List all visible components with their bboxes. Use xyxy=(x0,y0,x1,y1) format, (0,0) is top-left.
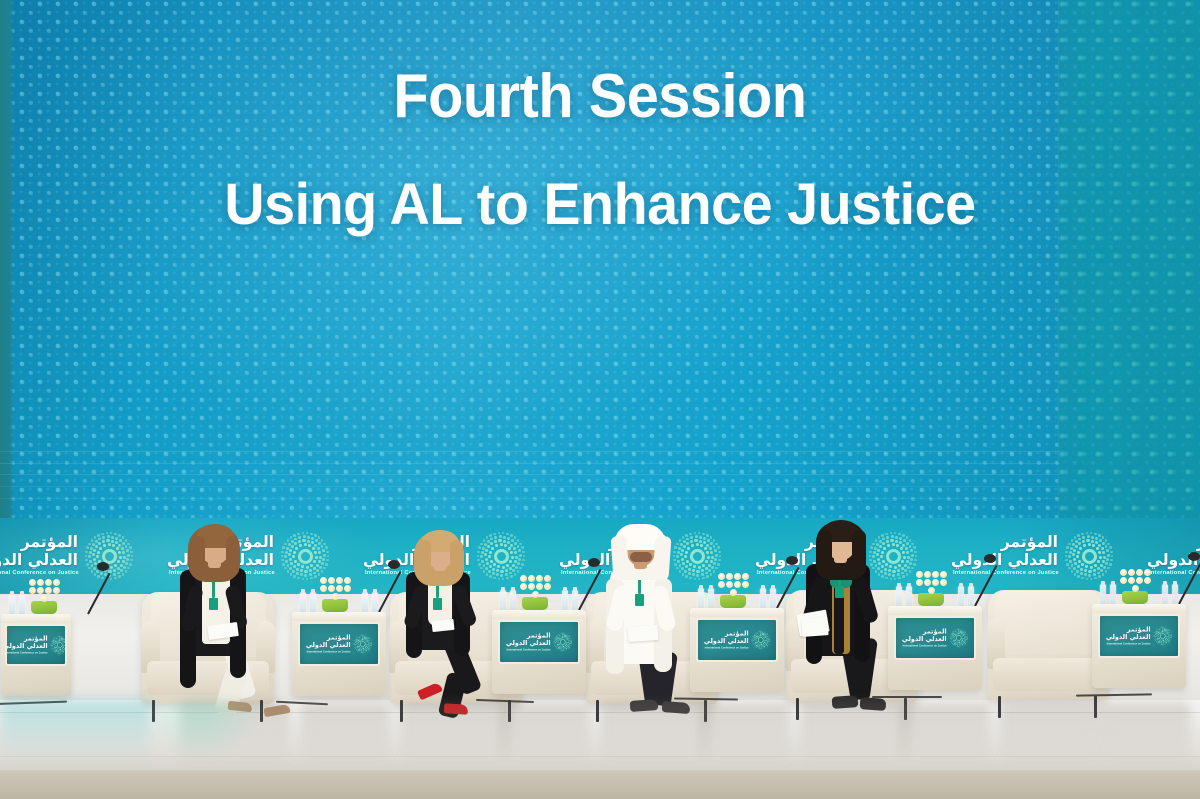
hair-front xyxy=(226,536,239,576)
flower xyxy=(320,577,327,584)
dotted-ring-logo xyxy=(751,631,770,650)
flower xyxy=(528,583,535,590)
podium-text-block: المؤتمرالعدلي الدوليInternational Confer… xyxy=(5,636,47,655)
banner-unit: المؤتمرالعدلي الدوليInternational Confer… xyxy=(922,518,1118,594)
flower xyxy=(344,585,351,592)
flower-bouquet xyxy=(914,578,948,594)
flower xyxy=(924,571,931,578)
side-table-podium: المؤتمرالعدلي الدوليInternational Confer… xyxy=(1092,604,1186,688)
flower-bouquet xyxy=(27,586,61,602)
dotted-ring-logo xyxy=(1064,531,1114,581)
flower-bouquet xyxy=(518,582,552,598)
flower-bouquet xyxy=(1118,576,1152,592)
podium-arabic-line-2: العدلي الدولي xyxy=(1106,634,1151,641)
flower xyxy=(932,579,939,586)
flower xyxy=(1144,569,1151,576)
hair-front xyxy=(418,540,431,578)
flower xyxy=(1120,569,1127,576)
chair-seat xyxy=(993,658,1103,691)
water-bottle xyxy=(9,594,15,614)
podium-logo-block: المؤتمرالعدلي الدوليInternational Confer… xyxy=(1106,627,1172,646)
wall-seam-line xyxy=(0,486,1060,487)
floor-reflection-smudge xyxy=(1100,702,1190,764)
podium-arabic-line-1: المؤتمر xyxy=(725,631,749,638)
conference-photograph: Fourth Session Using AL to Enhance Justi… xyxy=(0,0,1200,799)
wall-seam-line xyxy=(0,463,1060,464)
document-paper xyxy=(801,617,828,637)
flower xyxy=(53,579,60,586)
wall-seam-line xyxy=(0,498,1060,499)
dotted-ring-logo xyxy=(50,636,66,655)
podium-text-block: المؤتمرالعدلي الدوليInternational Confer… xyxy=(306,635,351,654)
flower xyxy=(520,583,527,590)
flower-bouquet xyxy=(318,584,352,600)
flower xyxy=(1128,577,1135,584)
speaker-2 xyxy=(396,528,516,713)
podium-top-surface xyxy=(292,612,386,621)
flower xyxy=(742,573,749,580)
flower xyxy=(734,581,741,588)
flower-vase xyxy=(1122,591,1148,604)
flower xyxy=(544,575,551,582)
floor-reflection-smudge xyxy=(900,702,990,764)
flower xyxy=(532,591,539,598)
slide-subtitle: Using AL to Enhance Justice xyxy=(24,174,1176,236)
banner-arabic-line-1: المؤتمر xyxy=(21,535,78,551)
dotted-ring-logo xyxy=(1153,627,1172,646)
water-bottle xyxy=(572,590,578,610)
podium-english-text: International Conference on Justice xyxy=(307,650,351,653)
flower xyxy=(29,587,36,594)
flower-vase xyxy=(918,593,944,606)
logo-floor-reflection xyxy=(140,702,260,758)
flower xyxy=(536,583,543,590)
floor-reflection-smudge xyxy=(300,702,390,764)
floor-reflection-smudge xyxy=(700,702,790,764)
flower xyxy=(940,579,947,586)
flower xyxy=(37,587,44,594)
side-table-podium: المؤتمرالعدلي الدوليInternational Confer… xyxy=(292,612,386,696)
flower xyxy=(332,593,339,600)
podium-display-screen: المؤتمرالعدلي الدوليInternational Confer… xyxy=(1098,614,1181,658)
flower xyxy=(45,587,52,594)
podium-top-surface xyxy=(1092,604,1186,613)
side-table-podium: المؤتمرالعدلي الدوليInternational Confer… xyxy=(1,614,71,696)
flower xyxy=(928,587,935,594)
podium-logo-block: المؤتمرالعدلي الدوليInternational Confer… xyxy=(306,635,372,654)
flower xyxy=(528,575,535,582)
water-bottle xyxy=(362,592,368,612)
water-bottle xyxy=(958,586,964,606)
podium-english-text: International Conference on Justice xyxy=(5,652,47,655)
hair-front xyxy=(450,540,463,578)
flower xyxy=(328,585,335,592)
flower xyxy=(45,579,52,586)
banner-arabic-line-2: العدلي الدولي xyxy=(0,553,78,569)
badge xyxy=(209,598,218,610)
flower xyxy=(37,579,44,586)
flower xyxy=(520,575,527,582)
flower xyxy=(344,577,351,584)
flower xyxy=(1120,577,1127,584)
shoe xyxy=(417,682,443,701)
flower xyxy=(53,587,60,594)
flower xyxy=(328,577,335,584)
water-bottle xyxy=(770,588,776,608)
flower-vase xyxy=(522,597,548,610)
flower xyxy=(1144,577,1151,584)
water-bottle xyxy=(1162,584,1168,604)
podium-display-screen: المؤتمرالعدلي الدوليInternational Confer… xyxy=(298,622,381,666)
banner-text-block: المؤتمرالعدلي الدوليInternational Confer… xyxy=(951,535,1058,577)
flower xyxy=(320,585,327,592)
banner-unit: المؤتمرالعدلي الدوليInternational Confer… xyxy=(0,518,138,594)
flower-vase xyxy=(31,601,57,614)
flower xyxy=(932,571,939,578)
banner-english-text: International Conference on Justice xyxy=(953,571,1059,577)
flower xyxy=(336,577,343,584)
podium-arabic-line-1: المؤتمر xyxy=(327,635,351,642)
wall-seam-line xyxy=(0,474,1060,475)
slide-title: Fourth Session xyxy=(42,64,1158,130)
flower xyxy=(336,585,343,592)
floor-reflection-smudge xyxy=(400,702,510,764)
flower xyxy=(718,573,725,580)
podium-arabic-line-1: المؤتمر xyxy=(923,629,947,636)
badge xyxy=(433,598,442,610)
badge xyxy=(635,594,644,606)
flower xyxy=(916,579,923,586)
badge xyxy=(835,586,844,598)
podium-text-block: المؤتمرالعدلي الدوليInternational Confer… xyxy=(1106,627,1151,646)
microphone-head xyxy=(97,562,109,571)
flower xyxy=(536,575,543,582)
flower xyxy=(1128,569,1135,576)
flower xyxy=(1136,569,1143,576)
speaker-3 xyxy=(596,524,716,714)
document-paper xyxy=(628,625,659,642)
water-bottle xyxy=(310,592,316,612)
water-bottle xyxy=(19,594,25,614)
podium-logo-block: المؤتمرالعدلي الدوليInternational Confer… xyxy=(5,636,67,655)
wall-seam-line xyxy=(0,451,1060,452)
chair-back xyxy=(995,590,1101,654)
banner-arabic-line-2: العدلي الدولي xyxy=(951,553,1058,569)
banner-english-text: International Conference on Justice xyxy=(0,571,79,577)
flower xyxy=(726,581,733,588)
dotted-ring-logo xyxy=(949,629,968,648)
microphone-head xyxy=(1188,552,1200,561)
podium-arabic-line-1: المؤتمر xyxy=(1127,627,1151,634)
floor-reflection-smudge xyxy=(500,702,590,764)
flower-vase xyxy=(322,599,348,612)
podium-english-text: International Conference on Justice xyxy=(1107,642,1151,645)
speaker-4 xyxy=(796,518,916,714)
podium-top-surface xyxy=(1,614,71,623)
water-bottle xyxy=(1172,584,1178,604)
flower xyxy=(1132,585,1139,592)
banner-text-block: المؤتمرالعدلي الدوليInternational Confer… xyxy=(0,535,78,577)
water-bottle xyxy=(372,592,378,612)
flower xyxy=(924,579,931,586)
dotted-ring-logo xyxy=(553,633,572,652)
flower xyxy=(940,571,947,578)
banner-arabic-line-1: المؤتمر xyxy=(1001,535,1058,551)
water-bottle xyxy=(760,588,766,608)
hair-front xyxy=(852,530,866,576)
flower xyxy=(734,573,741,580)
dotted-ring-logo xyxy=(353,635,372,654)
water-bottle xyxy=(1100,584,1106,604)
podium-arabic-line-2: العدلي الدولي xyxy=(5,643,47,650)
water-bottle xyxy=(1110,584,1116,604)
water-bottle xyxy=(300,592,306,612)
flower xyxy=(29,579,36,586)
document-paper xyxy=(431,619,454,632)
floor-reflection-smudge xyxy=(800,702,910,764)
microphone-head xyxy=(984,554,996,563)
hair-front xyxy=(630,552,652,562)
flower-vase xyxy=(720,595,746,608)
podium-arabic-line-1: المؤتمر xyxy=(527,633,551,640)
flower xyxy=(916,571,923,578)
water-bottle xyxy=(562,590,568,610)
banner-floor-reflection xyxy=(0,700,150,758)
hair-front xyxy=(818,530,832,576)
flower xyxy=(730,589,737,596)
podium-display-screen: المؤتمرالعدلي الدوليInternational Confer… xyxy=(5,624,67,667)
water-bottle xyxy=(968,586,974,606)
flower xyxy=(544,583,551,590)
flower xyxy=(1136,577,1143,584)
wall-left-panel xyxy=(0,0,14,600)
floor-reflection-smudge xyxy=(1000,702,1100,764)
flower-bouquet xyxy=(716,580,750,596)
floor-reflection-smudge xyxy=(600,702,710,764)
speaker-1 xyxy=(168,520,298,715)
flower xyxy=(718,581,725,588)
podium-arabic-line-2: العدلي الدولي xyxy=(306,642,351,649)
stage-edge-bar xyxy=(0,770,1200,799)
flower xyxy=(41,595,48,602)
hair-front xyxy=(192,536,205,576)
hair-front xyxy=(652,535,671,580)
flower xyxy=(742,581,749,588)
flower xyxy=(726,573,733,580)
panel-chair xyxy=(988,590,1108,700)
hair-front xyxy=(610,535,629,580)
